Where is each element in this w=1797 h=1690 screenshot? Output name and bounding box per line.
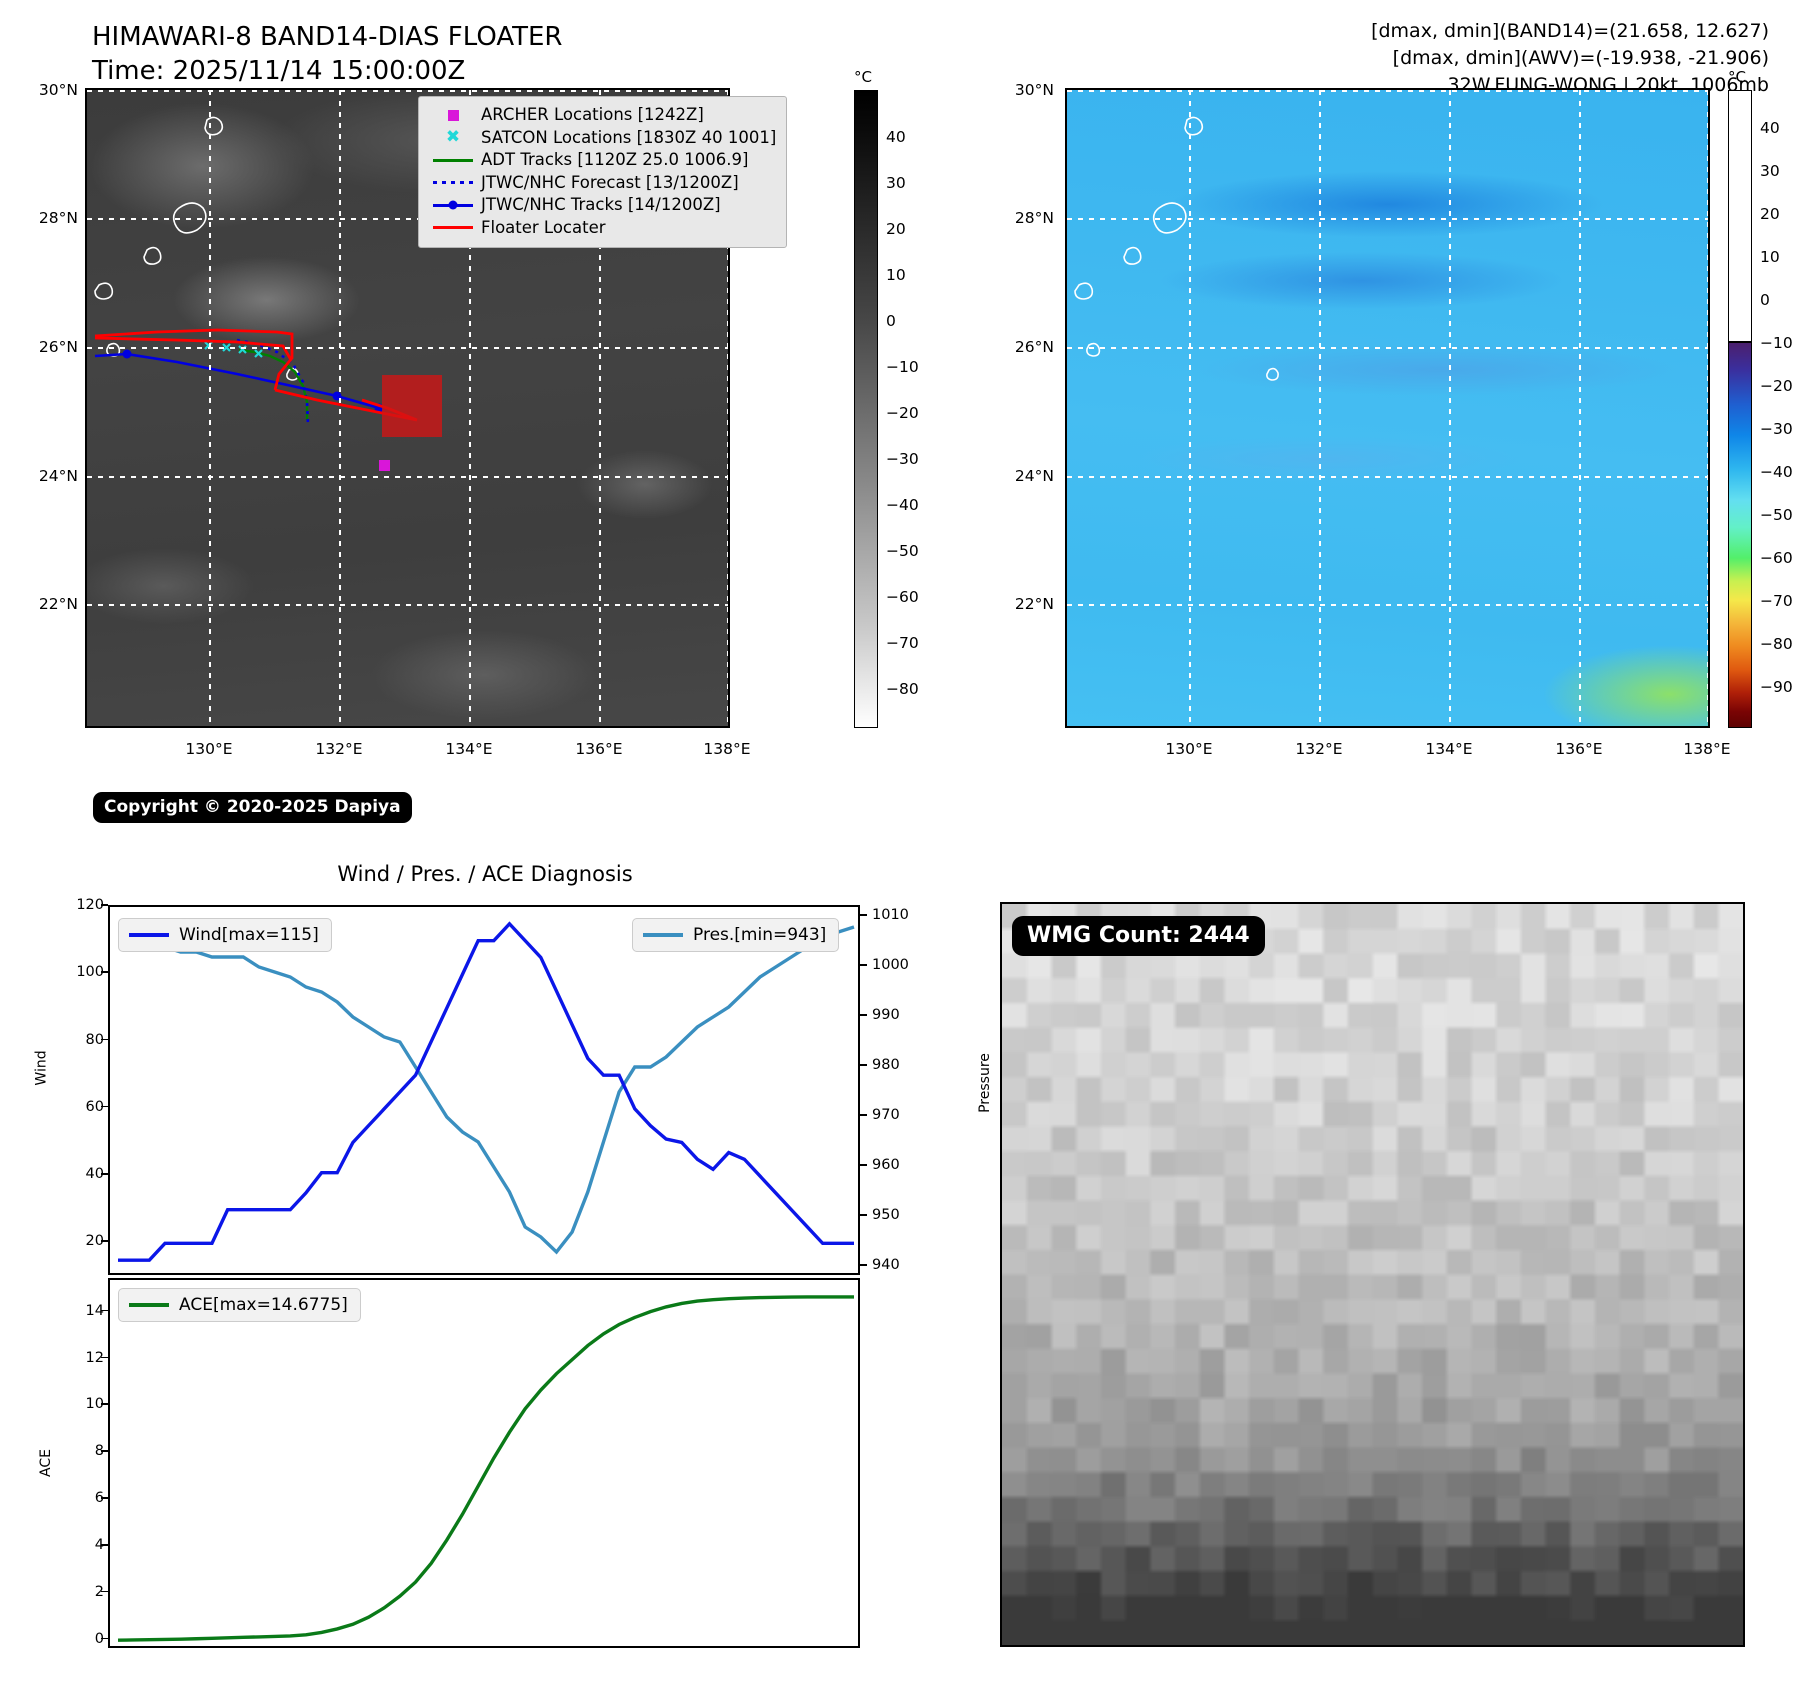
legend-item-archer[interactable]: ARCHER Locations [1242Z] (429, 104, 776, 127)
wv-coastlines (1067, 90, 1710, 728)
wv-lon-tick: 134°E (1425, 740, 1472, 758)
wind-y-tick: 100 (52, 964, 104, 980)
wind-plot-lines (110, 907, 862, 1277)
pressure-y-tick: 940 (872, 1257, 900, 1273)
ir-cb-tick: −50 (886, 542, 919, 560)
ir-cb-tick: −30 (886, 450, 919, 468)
wv-cb-tick: −40 (1760, 463, 1793, 481)
wv-cb-tick: 0 (1760, 291, 1770, 309)
ace-y-tick-mark (101, 1310, 108, 1312)
wv-lat-tick: 30°N (988, 81, 1054, 99)
ace-y-tick-mark (101, 1497, 108, 1499)
meta-band14-range: [dmax, dmin](BAND14)=(21.658, 12.627) (1371, 18, 1769, 45)
title-line: HIMAWARI-8 BAND14-DIAS FLOATER (92, 20, 562, 54)
wv-cb-tick: −90 (1760, 678, 1793, 696)
ir-lat-tick: 28°N (16, 209, 78, 227)
ir-cb-tick: 0 (886, 312, 896, 330)
legend-item-jtwc-forecast[interactable]: JTWC/NHC Forecast [13/1200Z] (429, 172, 776, 195)
wv-lat-tick: 28°N (988, 209, 1054, 227)
ir-map-legend: ARCHER Locations [1242Z] ✖ SATCON Locati… (418, 96, 787, 248)
wind-y-tick: 40 (52, 1166, 104, 1182)
ir-lon-tick: 132°E (315, 740, 362, 758)
ir-cb-tick: −80 (886, 680, 919, 698)
wv-lat-tick: 24°N (988, 467, 1054, 485)
pressure-y-tick: 980 (872, 1057, 900, 1073)
ace-y-tick-mark (101, 1403, 108, 1405)
legend-item-satcon[interactable]: ✖ SATCON Locations [1830Z 40 1001] (429, 127, 776, 150)
ir-cb-tick: 20 (886, 220, 906, 238)
wmg-count-badge: WMG Count: 2444 (1012, 916, 1265, 956)
legend-label: JTWC/NHC Forecast [13/1200Z] (477, 175, 739, 192)
legend-item-floater[interactable]: Floater Locater (429, 217, 776, 240)
ir-cb-tick: 30 (886, 174, 906, 192)
wv-cb-tick: −50 (1760, 506, 1793, 524)
cyan-x-marker-icon: ✖ (429, 129, 477, 146)
ir-cb-tick: −40 (886, 496, 919, 514)
wind-y-tick: 80 (52, 1032, 104, 1048)
meta-awv-range: [dmax, dmin](AWV)=(-19.938, -21.906) (1371, 45, 1769, 72)
ir-lon-tick: 134°E (445, 740, 492, 758)
wind-y-tick-mark (101, 1240, 108, 1242)
wv-lon-tick: 136°E (1555, 740, 1602, 758)
wv-lon-tick: 132°E (1295, 740, 1342, 758)
ir-lat-tick: 30°N (16, 81, 78, 99)
magenta-square-marker-icon (429, 110, 477, 121)
pressure-series-legend[interactable]: Pres.[min=943] (632, 918, 839, 952)
green-line-icon (429, 159, 477, 162)
pressure-y-tick-mark (860, 1164, 867, 1166)
pressure-y-tick: 970 (872, 1107, 900, 1123)
red-line-icon (429, 226, 477, 229)
ace-y-tick-mark (101, 1591, 108, 1593)
ir-cb-tick: 40 (886, 128, 906, 146)
wind-y-tick: 20 (52, 1233, 104, 1249)
ir-lat-tick: 26°N (16, 338, 78, 356)
wind-y-tick-mark (101, 904, 108, 906)
ir-cb-tick: −20 (886, 404, 919, 422)
wind-chart-title: Wind / Pres. / ACE Diagnosis (337, 862, 632, 886)
wind-y-tick-mark (101, 1173, 108, 1175)
pressure-y-tick-mark (860, 1014, 867, 1016)
ir-colorbar (854, 90, 878, 728)
wv-lon-tick: 138°E (1683, 740, 1730, 758)
ace-y-tick: 14 (52, 1303, 104, 1319)
ace-y-tick-mark (101, 1450, 108, 1452)
legend-label: JTWC/NHC Tracks [14/1200Z] (477, 197, 721, 214)
ace-y-tick: 0 (52, 1631, 104, 1647)
ace-series-legend[interactable]: ACE[max=14.6775] (118, 1288, 361, 1322)
ace-y-tick: 12 (52, 1350, 104, 1366)
ace-plot-line (110, 1280, 862, 1650)
ir-lat-tick: 24°N (16, 467, 78, 485)
pressure-y-tick: 990 (872, 1007, 900, 1023)
pressure-y-tick: 950 (872, 1207, 900, 1223)
wv-cb-tick: −30 (1760, 420, 1793, 438)
blue-line-icon (129, 933, 169, 937)
ace-y-tick: 6 (52, 1490, 104, 1506)
page-title: HIMAWARI-8 BAND14-DIAS FLOATER Time: 202… (92, 20, 562, 89)
pressure-y-tick-mark (860, 914, 867, 916)
ace-y-tick-mark (101, 1357, 108, 1359)
wv-cb-tick: −60 (1760, 549, 1793, 567)
wind-y-tick: 60 (52, 1099, 104, 1115)
wv-lat-tick: 22°N (988, 595, 1054, 613)
ace-legend-label: ACE[max=14.6775] (179, 1295, 348, 1315)
pressure-y-tick: 960 (872, 1157, 900, 1173)
ace-chart[interactable] (108, 1278, 860, 1648)
metadata-block: [dmax, dmin](BAND14)=(21.658, 12.627) [d… (1371, 18, 1769, 99)
wmg-gray-pixel-map[interactable] (1000, 902, 1745, 1647)
wmg-canvas (1002, 904, 1743, 1645)
ace-y-tick: 4 (52, 1537, 104, 1553)
legend-label: SATCON Locations [1830Z 40 1001] (477, 130, 776, 147)
wv-lon-tick: 130°E (1165, 740, 1212, 758)
pressure-y-tick: 1000 (872, 957, 909, 973)
ace-y-tick-mark (101, 1544, 108, 1546)
blue-dotted-line-icon (429, 181, 477, 184)
wv-cb-tick: 40 (1760, 119, 1780, 137)
time-line: Time: 2025/11/14 15:00:00Z (92, 54, 562, 88)
wv-colorbar-unit: °C (1728, 68, 1746, 86)
ir-colorbar-unit: °C (854, 68, 872, 86)
pressure-y-tick-mark (860, 964, 867, 966)
ace-y-tick-mark (101, 1638, 108, 1640)
wind-y-tick-mark (101, 1039, 108, 1041)
ir-lon-tick: 130°E (185, 740, 232, 758)
copyright-badge: Copyright © 2020-2025 Dapiya (93, 792, 412, 823)
steel-blue-line-icon (643, 933, 683, 937)
wv-cb-tick: −20 (1760, 377, 1793, 395)
ir-cb-tick: −10 (886, 358, 919, 376)
legend-label: ARCHER Locations [1242Z] (477, 107, 704, 124)
wv-cb-tick: −70 (1760, 592, 1793, 610)
ace-y-tick: 10 (52, 1396, 104, 1412)
legend-label: ADT Tracks [1120Z 25.0 1006.9] (477, 152, 748, 169)
wv-cb-tick: −10 (1760, 334, 1793, 352)
ir-lat-tick: 22°N (16, 595, 78, 613)
pressure-y-tick: 1010 (872, 907, 909, 923)
wind-y-axis-label: Wind (34, 1050, 50, 1085)
legend-label: Floater Locater (477, 220, 606, 237)
water-vapor-satellite-map[interactable] (1065, 88, 1710, 728)
dashboard-root: HIMAWARI-8 BAND14-DIAS FLOATER Time: 202… (0, 0, 1797, 1690)
ir-lon-tick: 138°E (703, 740, 750, 758)
wind-pressure-chart[interactable] (108, 905, 860, 1275)
ace-y-tick: 2 (52, 1584, 104, 1600)
wv-cb-tick: 30 (1760, 162, 1780, 180)
wv-lat-tick: 26°N (988, 338, 1054, 356)
wind-y-tick-mark (101, 971, 108, 973)
wv-cb-tick: −80 (1760, 635, 1793, 653)
wind-y-tick-mark (101, 1106, 108, 1108)
wind-series-legend[interactable]: Wind[max=115] (118, 918, 332, 952)
legend-item-jtwc-tracks[interactable]: JTWC/NHC Tracks [14/1200Z] (429, 194, 776, 217)
ir-cb-tick: −70 (886, 634, 919, 652)
wv-cb-tick: 10 (1760, 248, 1780, 266)
pressure-y-tick-mark (860, 1264, 867, 1266)
ir-cb-tick: 10 (886, 266, 906, 284)
pressure-y-tick-mark (860, 1214, 867, 1216)
pressure-legend-label: Pres.[min=943] (693, 925, 826, 945)
ir-cb-tick: −60 (886, 588, 919, 606)
ir-lon-tick: 136°E (575, 740, 622, 758)
wind-legend-label: Wind[max=115] (179, 925, 319, 945)
wv-cb-tick: 20 (1760, 205, 1780, 223)
blue-line-marker-icon (429, 204, 477, 207)
pressure-y-axis-label: Pressure (977, 1053, 993, 1113)
legend-item-adt[interactable]: ADT Tracks [1120Z 25.0 1006.9] (429, 149, 776, 172)
wv-colorbar-color-segment (1728, 342, 1752, 728)
pressure-y-tick-mark (860, 1064, 867, 1066)
pressure-y-tick-mark (860, 1114, 867, 1116)
wind-y-tick: 120 (52, 897, 104, 913)
green-line-icon (129, 1303, 169, 1307)
wv-colorbar-white-segment (1728, 90, 1752, 342)
ace-y-tick: 8 (52, 1443, 104, 1459)
